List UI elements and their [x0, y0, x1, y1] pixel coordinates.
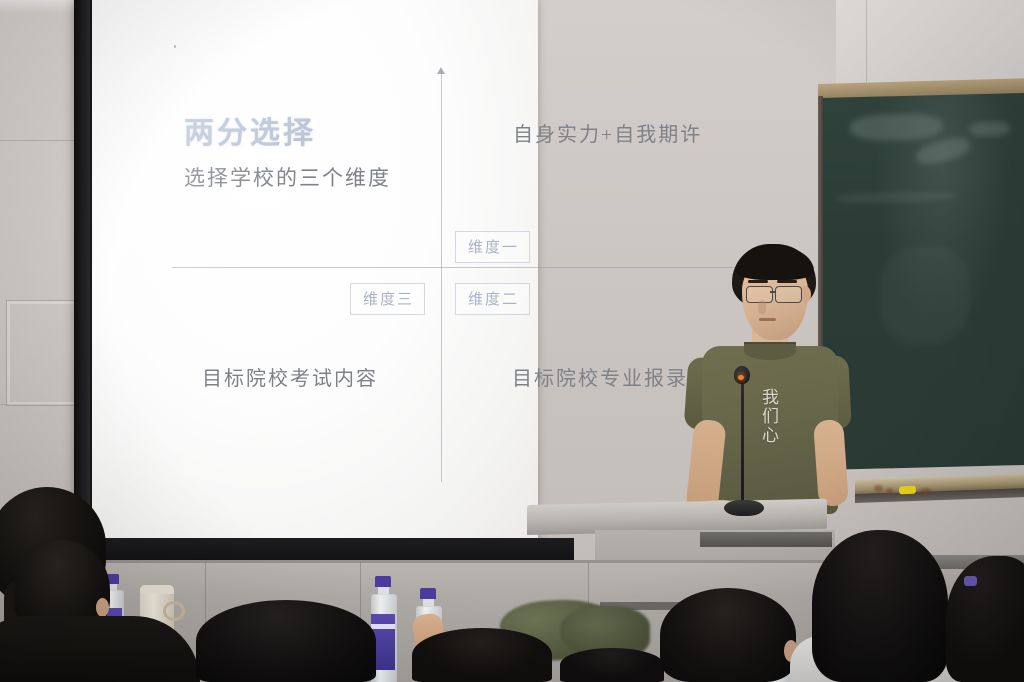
tshirt-graphic-text: 我 们 心: [742, 388, 800, 445]
audience-head: [196, 600, 376, 682]
classroom-photo: 两分选择 选择学校的三个维度 自身实力+自我期许 目标院校考试内容 目标院校专业…: [0, 0, 1024, 682]
projection-screen: 两分选择 选择学校的三个维度 自身实力+自我期许 目标院校考试内容 目标院校专业…: [92, 0, 538, 540]
microphone-power-led: [738, 375, 744, 380]
dimension-chip-two: 维度二: [455, 283, 530, 315]
chalkboard-eraser-icon: [899, 486, 916, 495]
quadrant-label-top-right: 自身实力+自我期许: [513, 118, 702, 147]
presenter-arm-right: [813, 419, 849, 507]
glasses-bridge: [770, 291, 776, 293]
presentation-slide: 两分选择 选择学校的三个维度 自身实力+自我期许 目标院校考试内容 目标院校专业…: [92, 0, 538, 540]
quadrant-label-bottom-left: 目标院校考试内容: [202, 362, 378, 391]
wall-seam: [866, 0, 867, 94]
audience-shoulders: [0, 616, 200, 682]
podium-equipment-slot: [700, 532, 832, 547]
presenter-eyebrow-left: [748, 280, 768, 283]
thermos-handle: [163, 601, 185, 621]
vertical-axis-arrow-icon: [437, 67, 445, 74]
microphone-base: [724, 500, 764, 516]
screen-bottom-edge: [74, 538, 574, 562]
dimension-chip-three: 维度三: [350, 283, 425, 315]
presenter-person: 我 们 心: [680, 238, 870, 538]
audience-ear: [96, 598, 109, 617]
presenter-nose: [758, 300, 766, 314]
quadrant-vertical-axis: [441, 70, 442, 482]
tshirt-text-line-1: 我: [762, 388, 780, 407]
dimension-chip-one: 维度一: [455, 231, 530, 263]
slide-subtitle: 选择学校的三个维度: [184, 162, 391, 192]
tshirt-text-line-3: 心: [762, 426, 780, 445]
screen-left-edge: [74, 0, 90, 562]
audience-head: [660, 588, 796, 682]
presenter-eyebrow-right: [777, 280, 797, 283]
microphone-stem: [741, 378, 744, 510]
glasses-lens-right: [775, 286, 802, 303]
tshirt-collar: [744, 342, 796, 360]
audience-head: [412, 628, 552, 682]
slide-title: 两分选择: [184, 108, 316, 152]
audience-head: [560, 648, 664, 682]
thermos-lid: [140, 585, 174, 594]
presenter-mouth: [759, 318, 776, 321]
screen-dust-speck: [174, 45, 176, 48]
hair-clip: [964, 576, 977, 586]
audience-head: [812, 530, 948, 682]
wall-recessed-panel: [6, 300, 82, 406]
tshirt-text-line-2: 们: [762, 407, 780, 426]
